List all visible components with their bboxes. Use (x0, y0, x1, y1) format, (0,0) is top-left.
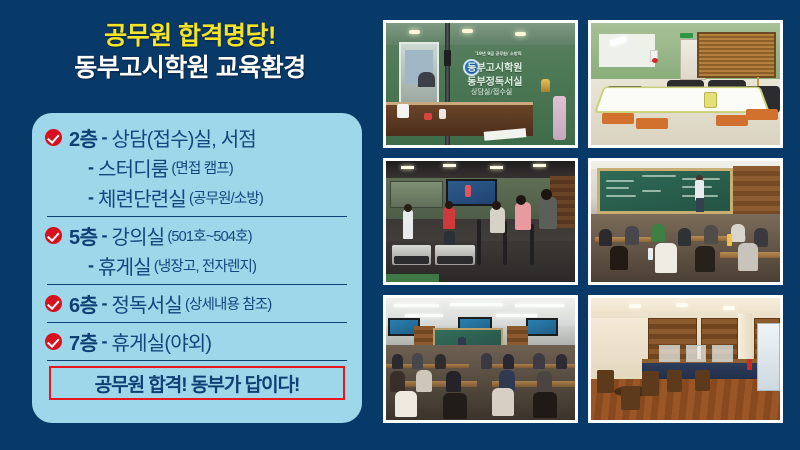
ceiling-lamp-icon (462, 29, 473, 33)
teacher-legs (696, 198, 704, 212)
chair (621, 386, 640, 410)
person-head (492, 201, 501, 210)
glass-sign-line-3: 동부정독서실 (467, 73, 522, 88)
person-head (541, 189, 552, 200)
chalk-writing (642, 175, 676, 177)
room-note: (501호~504호) (167, 225, 251, 246)
chalk-writing (606, 195, 636, 197)
floor-group-7: 7층 - 휴게실(야외) (43, 326, 351, 356)
divider (47, 360, 347, 361)
slogan-text: 공무원 합격! 동부가 답이다! (95, 370, 300, 397)
chair (695, 370, 710, 391)
student (537, 371, 552, 392)
room-name: 체련단련실 (98, 183, 186, 212)
student (443, 393, 467, 419)
student (655, 243, 677, 273)
headline-line-1: 공무원 합격명당! (0, 22, 380, 51)
seated-person (418, 72, 435, 87)
student (695, 246, 715, 272)
person-shorts (444, 231, 455, 245)
room-name: 휴게실 (98, 251, 151, 280)
ceiling-light-strip (496, 314, 538, 317)
glass-sign-line-4: 상담실/접수실 (471, 87, 512, 97)
ceiling-lamp-icon (490, 166, 503, 169)
student (412, 353, 423, 369)
table-container (704, 92, 717, 108)
desk-item (439, 109, 446, 119)
fire-alarm-icon (650, 50, 658, 62)
ceiling-lamp-icon (401, 166, 414, 169)
treadmill-belt (437, 256, 473, 265)
water-bottle (648, 248, 653, 260)
student (390, 371, 405, 392)
student (533, 353, 545, 369)
water-bottle (727, 234, 732, 246)
dash: - (88, 187, 94, 208)
ceiling-light-strip (405, 314, 443, 317)
student (556, 354, 567, 369)
chalk-writing (606, 180, 634, 182)
conference-table (593, 86, 770, 113)
student (503, 354, 514, 369)
room-name: 휴게실(야외) (112, 327, 212, 356)
photo-study-room (588, 20, 783, 148)
photo-large-hall-scene (386, 298, 575, 420)
floor-label: 7층 (69, 327, 98, 356)
ceiling-light-strip (450, 303, 503, 306)
student (533, 392, 557, 418)
room-note: (상세내용 참조) (185, 293, 272, 314)
photo-grid: '19년 9급 공무원/ 소방직 동부고시학원 동부정독서실 상담실/접수실 (383, 20, 783, 423)
wall-mirror (390, 181, 443, 208)
student (395, 391, 417, 417)
room-note: (공무원/소방) (189, 187, 263, 208)
door-handle-plate (444, 50, 451, 66)
wall-tv-screen (446, 179, 497, 206)
turf-strip (386, 274, 439, 283)
desk-partition (659, 345, 680, 362)
floor-label: 2층 (69, 123, 98, 152)
trophy-icon (541, 79, 550, 92)
floor-row-main: 6층 - 정독서실 (상세내용 참조) (43, 288, 351, 318)
desk-partition (712, 345, 733, 362)
photo-reception-scene: '19년 9급 공무원/ 소방직 동부고시학원 동부정독서실 상담실/접수실 (386, 23, 575, 145)
ceiling-light-strip (394, 304, 439, 307)
ceiling-lamp-icon (443, 164, 456, 167)
headline-line-2: 동부고시학원 교육환경 (0, 54, 380, 83)
chair-seat (602, 113, 634, 124)
facility-info-panel: 2층 - 상담(접수)실, 서점 - 스터디룸 (면접 캠프) - 체련단련실 … (32, 113, 362, 423)
student (731, 224, 745, 242)
chair (597, 370, 614, 393)
leaflet-stand (397, 104, 409, 118)
divider (47, 216, 347, 217)
standing-banner (553, 96, 566, 140)
room-name: 강의실 (112, 221, 165, 250)
chalk-writing (642, 190, 661, 192)
student (492, 388, 514, 416)
dash: - (88, 255, 94, 276)
student (625, 226, 639, 245)
ceiling-lamp-icon (515, 32, 526, 36)
left-column: 공무원 합격명당! 동부고시학원 교육환경 2층 - 상담(접수)실, 서점 -… (0, 0, 380, 450)
dash: - (88, 157, 94, 178)
floor-row-main: 2층 - 상담(접수)실, 서점 (43, 122, 351, 152)
wooden-floor (591, 379, 780, 420)
ceiling-lamp-icon (676, 303, 688, 307)
student (738, 243, 758, 271)
hall-monitor (526, 318, 558, 336)
chair (642, 371, 659, 395)
room-name: 상담(접수)실, 서점 (112, 123, 256, 152)
floor-group-2: 2층 - 상담(접수)실, 서점 - 스터디룸 (면접 캠프) - 체련단련실 … (43, 122, 351, 212)
fire-extinguisher-icon (747, 359, 752, 370)
chair-seat (636, 118, 668, 129)
student (678, 228, 691, 246)
student (446, 371, 461, 392)
room-note: (면접 캠프) (171, 157, 232, 178)
dash: - (102, 331, 108, 352)
student (651, 224, 665, 242)
exercise-bike (477, 219, 481, 265)
ceiling-lamp-icon (723, 306, 735, 310)
person-head (445, 201, 453, 209)
check-circle-icon (45, 295, 62, 312)
desk-item (424, 113, 432, 120)
photo-gym-scene (386, 161, 575, 283)
floor-row-main: 5층 - 강의실 (501호~504호) (43, 220, 351, 250)
floor-group-6: 6층 - 정독서실 (상세내용 참조) (43, 288, 351, 318)
student (435, 354, 446, 369)
floor-label: 5층 (69, 221, 98, 250)
divider (47, 322, 347, 323)
dash: - (102, 127, 108, 148)
room-note: (냉장고, 전자렌지) (154, 255, 256, 276)
divider (47, 284, 347, 285)
tv-content (465, 185, 471, 197)
slogan-box: 공무원 합격! 동부가 답이다! (49, 366, 345, 400)
photo-lecture-room (588, 158, 783, 286)
photo-large-hall (383, 295, 578, 423)
chair (667, 370, 682, 392)
ceiling-light-strip (515, 304, 564, 307)
vending-cabinet (757, 323, 780, 391)
ceiling (591, 298, 780, 317)
person-cycling (515, 202, 531, 230)
person-cycling (490, 207, 505, 233)
ceiling (386, 161, 575, 178)
dash: - (102, 225, 108, 246)
room-name: 정독서실 (112, 289, 182, 318)
floor-group-5: 5층 - 강의실 (501호~504호) - 휴게실 (냉장고, 전자렌지) (43, 220, 351, 280)
photo-lecture-room-scene (591, 161, 780, 283)
student (416, 370, 432, 392)
ceiling-lamp-icon (629, 304, 641, 308)
desk-partition (686, 345, 707, 362)
exercise-bike (530, 224, 534, 265)
wood-wall-panel (733, 166, 780, 222)
photo-lounge (588, 295, 783, 423)
check-circle-icon (45, 227, 62, 244)
ceiling-lamp-icon (409, 30, 420, 34)
check-circle-icon (45, 129, 62, 146)
treadmill-belt (394, 256, 430, 265)
photo-gym (383, 158, 578, 286)
check-circle-icon (45, 333, 62, 350)
dash: - (102, 293, 108, 314)
floor-row-sub: - 체련단련실 (공무원/소방) (43, 182, 351, 212)
student (599, 229, 612, 246)
photo-study-room-scene (591, 23, 780, 145)
headline-block: 공무원 합격명당! 동부고시학원 교육환경 (0, 22, 380, 83)
person-cycling (539, 197, 557, 229)
floor-row-main: 7층 - 휴게실(야외) (43, 326, 351, 356)
photo-reception: '19년 9급 공무원/ 소방직 동부고시학원 동부정독서실 상담실/접수실 (383, 20, 578, 148)
person-walking (403, 209, 413, 239)
ceiling-lamp-icon (533, 164, 546, 167)
student (610, 246, 628, 270)
photo-lounge-scene (591, 298, 780, 420)
floor-label: 6층 (69, 289, 98, 318)
glass-sign-line-1: '19년 9급 공무원/ 소방직 (475, 51, 522, 57)
floor-row-sub: - 스터디룸 (면접 캠프) (43, 152, 351, 182)
room-name: 스터디룸 (98, 153, 168, 182)
student (704, 225, 718, 244)
student (392, 354, 403, 369)
person-running (443, 207, 455, 229)
chair-seat (746, 109, 778, 120)
exit-sign-icon (680, 33, 693, 38)
poster-root: 공무원 합격명당! 동부고시학원 교육환경 2층 - 상담(접수)실, 서점 -… (0, 0, 800, 450)
floor-row-sub: - 휴게실 (냉장고, 전자렌지) (43, 250, 351, 280)
chair-seat (716, 115, 748, 126)
window-blinds (697, 32, 776, 78)
student (481, 353, 492, 369)
